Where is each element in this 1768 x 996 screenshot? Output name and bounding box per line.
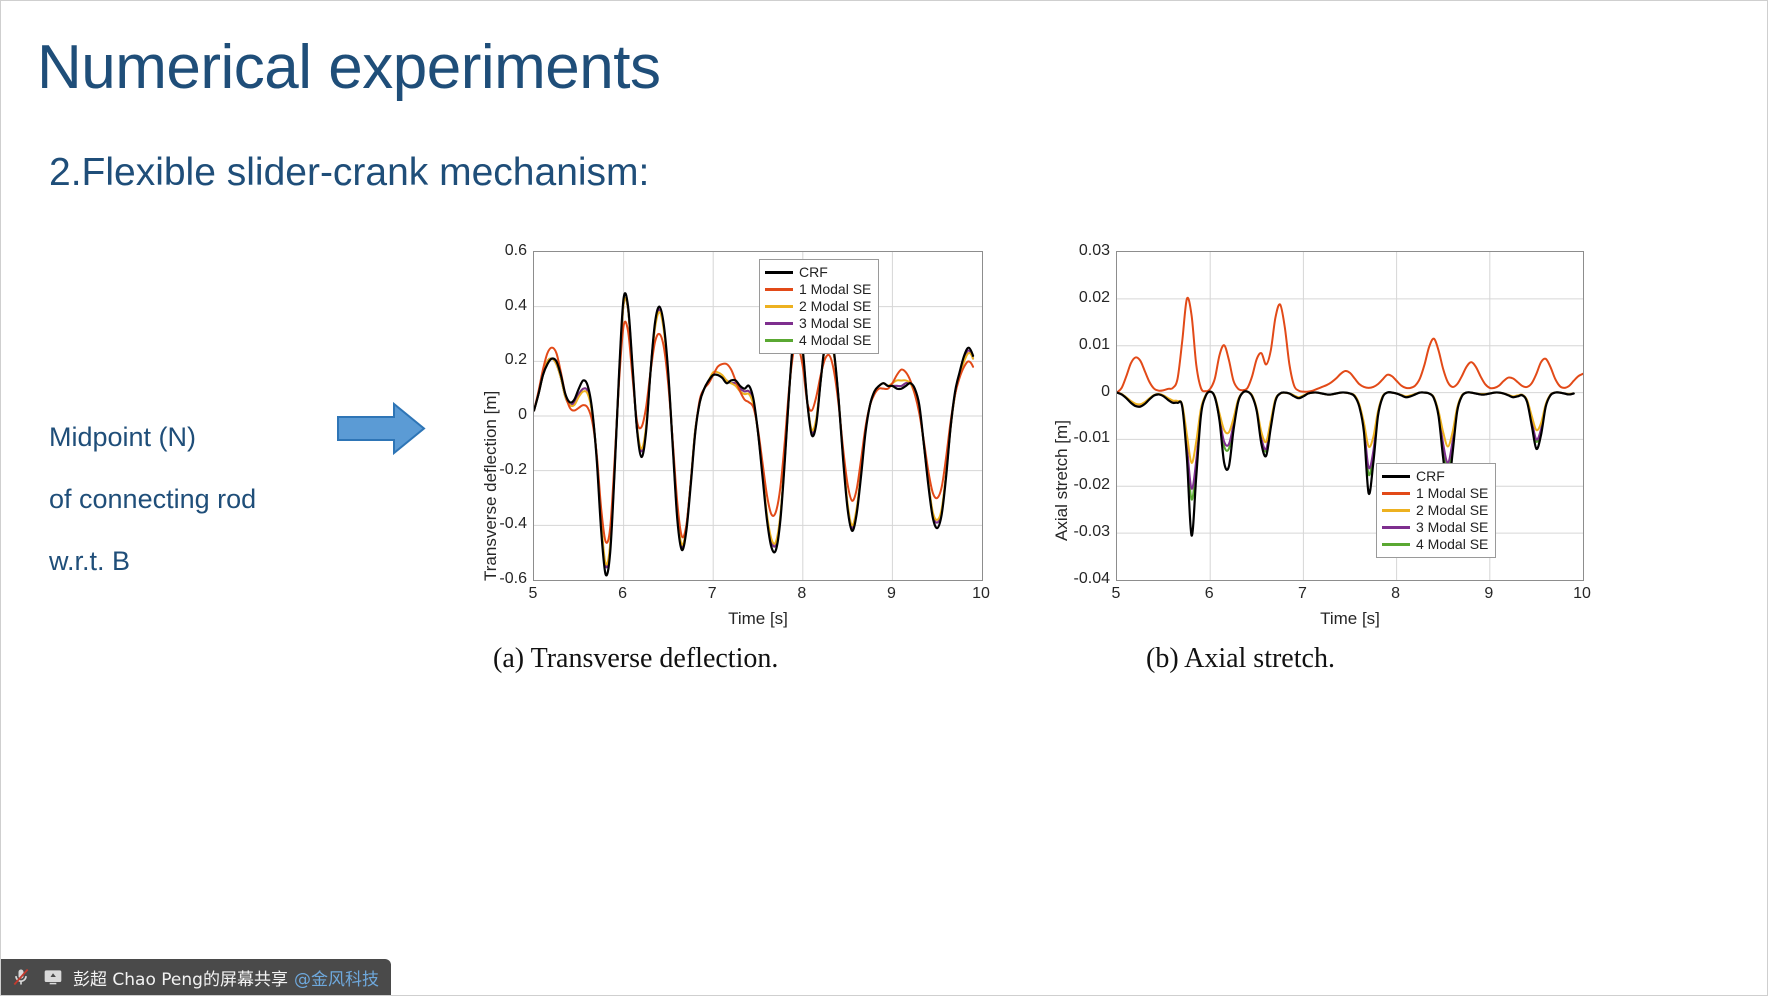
chart-transverse-deflection: Transverse deflection [m] -0.6-0.4-0.200… xyxy=(471,251,991,671)
legend-color-swatch xyxy=(1382,492,1410,495)
legend-label: 1 Modal SE xyxy=(799,281,871,298)
chart-a-plot-area xyxy=(533,251,983,581)
legend-item: 1 Modal SE xyxy=(765,281,871,298)
right-arrow-icon xyxy=(336,401,426,456)
legend-label: 3 Modal SE xyxy=(799,315,871,332)
screen-share-icon[interactable] xyxy=(41,965,65,989)
chart-a-legend: CRF1 Modal SE2 Modal SE3 Modal SE4 Modal… xyxy=(759,259,879,354)
figure-container: Transverse deflection [m] -0.6-0.4-0.200… xyxy=(471,251,1591,731)
x-tick-label: 10 xyxy=(1573,585,1591,603)
y-tick-label: -0.6 xyxy=(499,570,527,588)
x-tick-label: 8 xyxy=(1391,585,1400,603)
x-tick-label: 9 xyxy=(887,585,896,603)
legend-color-swatch xyxy=(1382,475,1410,478)
legend-label: 2 Modal SE xyxy=(1416,502,1488,519)
chart-b-plot-area xyxy=(1116,251,1584,581)
x-tick-label: 9 xyxy=(1484,585,1493,603)
page-title: Numerical experiments xyxy=(37,32,661,104)
x-tick-label: 5 xyxy=(1112,585,1121,603)
chart-axial-stretch: Axial stretch [m] -0.04-0.03-0.02-0.0100… xyxy=(1046,251,1591,671)
caption-b: (b) Axial stretch. xyxy=(1146,643,1335,675)
x-tick-label: 10 xyxy=(972,585,990,603)
legend-item: 4 Modal SE xyxy=(765,332,871,349)
x-tick-label: 5 xyxy=(529,585,538,603)
legend-color-swatch xyxy=(765,322,793,325)
y-tick-label: -0.04 xyxy=(1074,570,1110,588)
legend-color-swatch xyxy=(1382,543,1410,546)
y-tick-label: 0.03 xyxy=(1079,242,1110,260)
legend-item: CRF xyxy=(1382,468,1488,485)
legend-color-swatch xyxy=(765,339,793,342)
legend-label: 1 Modal SE xyxy=(1416,485,1488,502)
chart-a-x-ticks: 5678910 xyxy=(533,585,983,607)
y-tick-label: 0.01 xyxy=(1079,336,1110,354)
legend-item: 1 Modal SE xyxy=(1382,485,1488,502)
y-tick-label: -0.01 xyxy=(1074,429,1110,447)
annotation-line-2: of connecting rod xyxy=(49,468,256,530)
x-tick-label: 6 xyxy=(1205,585,1214,603)
y-tick-label: -0.03 xyxy=(1074,523,1110,541)
annotation-text-block: Midpoint (N) of connecting rod w.r.t. B xyxy=(49,406,256,592)
x-tick-label: 7 xyxy=(1298,585,1307,603)
legend-label: 3 Modal SE xyxy=(1416,519,1488,536)
legend-item: CRF xyxy=(765,264,871,281)
x-tick-label: 7 xyxy=(708,585,717,603)
legend-item: 2 Modal SE xyxy=(1382,502,1488,519)
y-tick-label: -0.4 xyxy=(499,515,527,533)
y-tick-label: 0 xyxy=(518,406,527,424)
chart-a-y-ticks: -0.6-0.4-0.200.20.40.6 xyxy=(471,251,527,581)
share-bar-text: 彭超 Chao Peng的屏幕共享 xyxy=(73,965,288,990)
chart-b-y-ticks: -0.04-0.03-0.02-0.0100.010.020.03 xyxy=(1046,251,1110,581)
legend-color-swatch xyxy=(1382,526,1410,529)
legend-color-swatch xyxy=(765,288,793,291)
y-tick-label: -0.02 xyxy=(1074,476,1110,494)
x-tick-label: 8 xyxy=(797,585,806,603)
presentation-slide: Numerical experiments 2.Flexible slider-… xyxy=(0,0,1768,996)
legend-label: CRF xyxy=(799,264,828,281)
legend-color-swatch xyxy=(765,271,793,274)
legend-color-swatch xyxy=(1382,509,1410,512)
legend-label: 4 Modal SE xyxy=(799,332,871,349)
y-tick-label: 0.2 xyxy=(505,351,527,369)
screen-share-bar[interactable]: 彭超 Chao Peng的屏幕共享 @金风科技 xyxy=(1,959,391,995)
legend-label: CRF xyxy=(1416,468,1445,485)
legend-label: 2 Modal SE xyxy=(799,298,871,315)
legend-color-swatch xyxy=(765,305,793,308)
legend-item: 3 Modal SE xyxy=(1382,519,1488,536)
y-tick-label: 0.4 xyxy=(505,297,527,315)
chart-b-x-ticks: 5678910 xyxy=(1116,585,1584,607)
chart-a-x-axis-label: Time [s] xyxy=(533,609,983,629)
chart-b-x-axis-label: Time [s] xyxy=(1116,609,1584,629)
x-tick-label: 6 xyxy=(618,585,627,603)
legend-item: 2 Modal SE xyxy=(765,298,871,315)
caption-a: (a) Transverse deflection. xyxy=(493,643,778,675)
slide-subtitle: 2.Flexible slider-crank mechanism: xyxy=(49,146,649,200)
legend-item: 3 Modal SE xyxy=(765,315,871,332)
annotation-line-3: w.r.t. B xyxy=(49,530,256,592)
microphone-muted-icon[interactable] xyxy=(9,965,33,989)
annotation-line-1: Midpoint (N) xyxy=(49,406,256,468)
legend-label: 4 Modal SE xyxy=(1416,536,1488,553)
y-tick-label: 0.02 xyxy=(1079,289,1110,307)
y-tick-label: 0 xyxy=(1101,383,1110,401)
legend-item: 4 Modal SE xyxy=(1382,536,1488,553)
share-bar-tag: @金风科技 xyxy=(294,965,379,990)
y-tick-label: 0.6 xyxy=(505,242,527,260)
chart-b-legend: CRF1 Modal SE2 Modal SE3 Modal SE4 Modal… xyxy=(1376,463,1496,558)
y-tick-label: -0.2 xyxy=(499,461,527,479)
